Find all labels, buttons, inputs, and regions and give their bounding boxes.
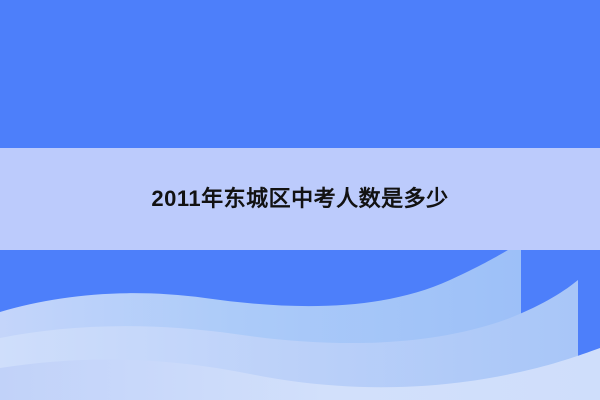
page-title: 2011年东城区中考人数是多少 (151, 188, 448, 210)
wave-decoration-band (0, 250, 600, 400)
top-color-band (0, 0, 600, 148)
banner-image: 2011年东城区中考人数是多少 (0, 0, 600, 400)
wave-graphic (0, 250, 600, 400)
title-band: 2011年东城区中考人数是多少 (0, 148, 600, 250)
